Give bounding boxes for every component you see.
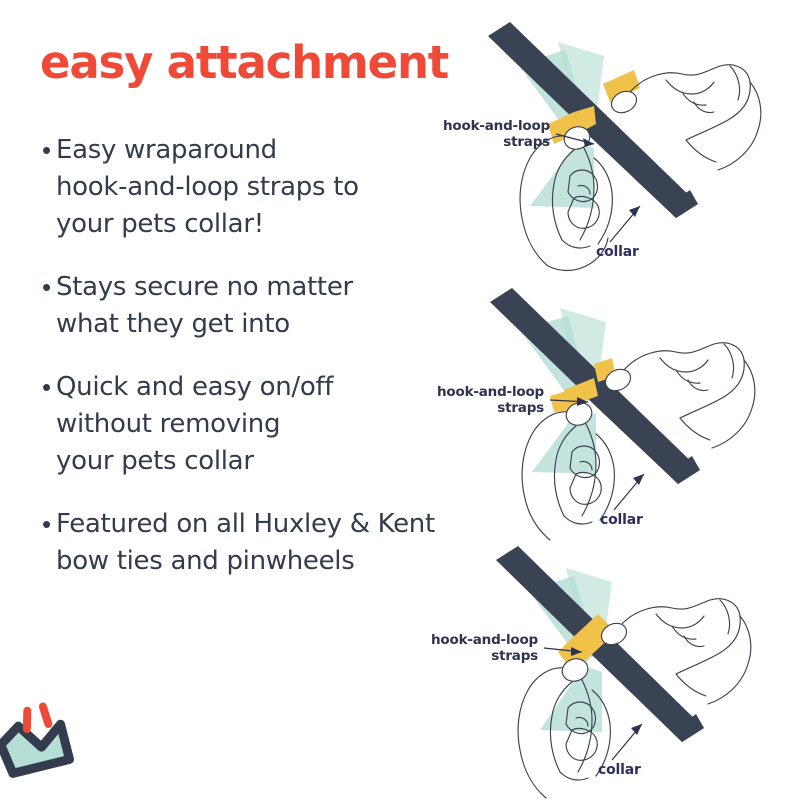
- illustration-panel-step-2: hook-and-loop straps collar: [398, 272, 800, 544]
- list-item-text: Stays secure no matter what they get int…: [56, 269, 353, 343]
- hand-upper-line-art: [630, 65, 761, 170]
- illustration-panel-step-3: hook-and-loop straps collar: [398, 534, 800, 806]
- arrow-head-collar-icon: [629, 206, 640, 217]
- crown-spark-right-icon: [43, 706, 48, 724]
- crown-shape-icon: [0, 720, 70, 775]
- list-item-text: Easy wraparound hook-and-loop straps to …: [56, 132, 359, 243]
- crown-spark-left-icon: [24, 711, 29, 729]
- page-title: easy attachment: [40, 40, 448, 85]
- label-collar: collar: [600, 512, 643, 528]
- arrow-head-collar-icon: [633, 474, 644, 485]
- infographic-page: easy attachment • Easy wraparound hook-a…: [0, 0, 800, 800]
- label-hook-and-loop-straps-line1: hook-and-loop: [431, 632, 539, 648]
- bullet-marker-icon: •: [42, 269, 56, 305]
- label-hook-and-loop-straps-line2: straps: [497, 400, 544, 416]
- list-item-text: Quick and easy on/off without removing y…: [56, 369, 333, 480]
- list-item-text: Featured on all Huxley & Kent bow ties a…: [56, 506, 435, 580]
- crown-logo: [0, 700, 104, 786]
- label-collar: collar: [596, 244, 639, 260]
- label-hook-and-loop-straps-line1: hook-and-loop: [437, 384, 545, 400]
- label-hook-and-loop-straps-line2: straps: [491, 648, 538, 664]
- label-hook-and-loop-straps-line1: hook-and-loop: [443, 118, 551, 134]
- bullet-marker-icon: •: [42, 369, 56, 405]
- bullet-marker-icon: •: [42, 506, 56, 542]
- arrow-head-collar-icon: [631, 724, 642, 735]
- bullet-marker-icon: •: [42, 132, 56, 168]
- label-hook-and-loop-straps-line2: straps: [503, 134, 550, 150]
- label-collar: collar: [598, 762, 641, 778]
- illustration-panel-step-1: hook-and-loop straps collar: [398, 8, 800, 280]
